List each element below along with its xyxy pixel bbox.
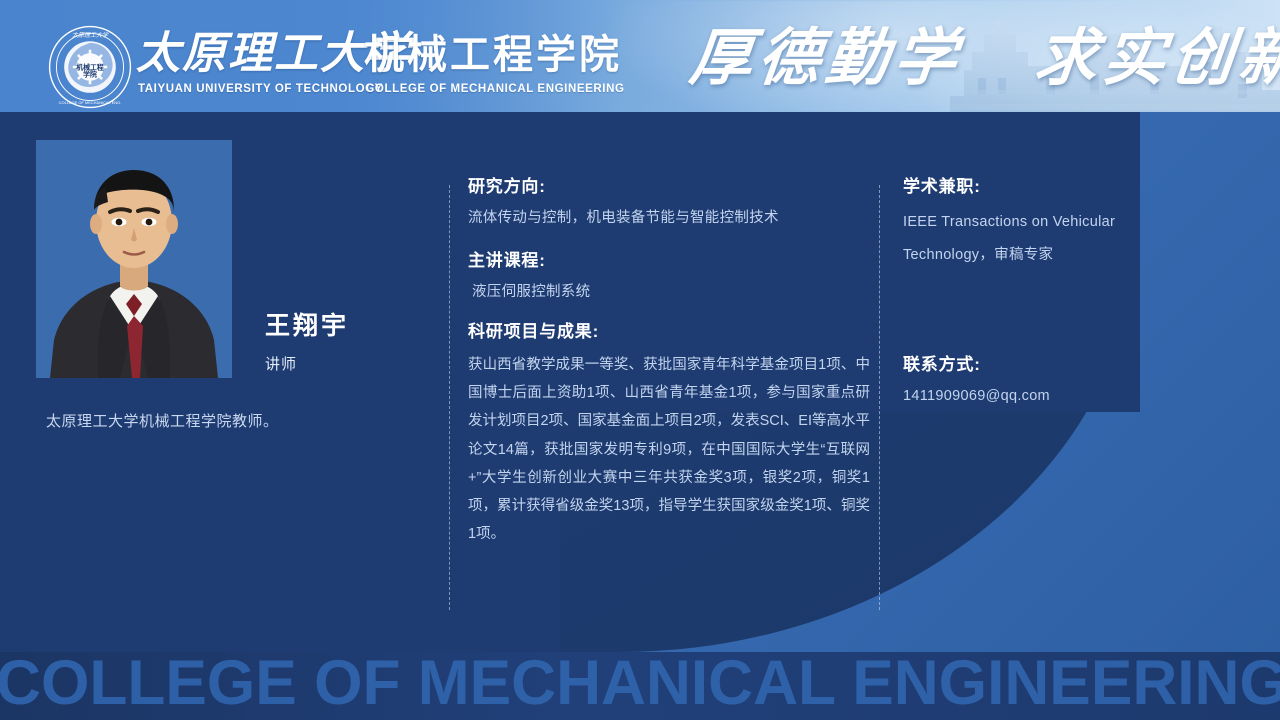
courses-body: 液压伺服控制系统: [468, 280, 870, 304]
column-divider-left: [449, 185, 450, 610]
faculty-bio: 太原理工大学机械工程学院教师。: [46, 410, 426, 434]
faculty-name: 王翔宇: [265, 306, 349, 342]
footer-band: COLLEGE OF MECHANICAL ENGINEERING: [0, 652, 1280, 720]
motto-calligraphy: 厚德勤学 求实创新: [686, 22, 1280, 96]
footer-banner-text: COLLEGE OF MECHANICAL ENGINEERING: [0, 652, 1272, 720]
middle-column: 研究方向: 流体传动与控制，机电装备节能与智能控制技术 主讲课程: 液压伺服控制…: [468, 172, 870, 548]
university-name-en: TAIYUAN UNIVERSITY OF TECHNOLOGY: [138, 83, 383, 95]
research-heading: 研究方向:: [468, 172, 870, 197]
contact-section: 联系方式: 1411909069@qq.com: [903, 350, 1203, 408]
research-body: 流体传动与控制，机电装备节能与智能控制技术: [468, 206, 870, 230]
courses-heading: 主讲课程:: [468, 246, 870, 271]
contact-body: 1411909069@qq.com: [903, 384, 1203, 408]
right-column: 学术兼职: IEEE Transactions on Vehicular Tec…: [903, 172, 1203, 408]
faculty-role: 讲师: [265, 353, 297, 374]
academic-section: 学术兼职: IEEE Transactions on Vehicular Tec…: [903, 172, 1203, 272]
projects-heading: 科研项目与成果:: [468, 317, 870, 342]
motto-part-2: 求实创新: [1031, 25, 1280, 93]
svg-text:机械工程: 机械工程: [76, 63, 104, 72]
courses-section: 主讲课程: 液压伺服控制系统: [468, 246, 870, 304]
slide-canvas: 机械工程 学院 太原理工大学 COLLEGE OF MECHANICAL ENG…: [0, 0, 1280, 720]
academic-heading: 学术兼职:: [903, 172, 1203, 197]
svg-text:学院: 学院: [83, 69, 97, 78]
university-seal-icon: 机械工程 学院 太原理工大学 COLLEGE OF MECHANICAL ENG…: [47, 24, 133, 110]
header-band: 机械工程 学院 太原理工大学 COLLEGE OF MECHANICAL ENG…: [0, 0, 1280, 112]
research-section: 研究方向: 流体传动与控制，机电装备节能与智能控制技术: [468, 172, 870, 230]
contact-heading: 联系方式:: [903, 350, 1203, 375]
college-name-cn: 机械工程学院: [364, 30, 622, 80]
college-name-en: COLLEGE OF MECHANICAL ENGINEERING: [366, 83, 625, 95]
column-divider-right: [879, 185, 880, 610]
portrait-photo: [36, 140, 232, 378]
projects-body: 获山西省教学成果一等奖、获批国家青年科学基金项目1项、中国博士后面上资助1项、山…: [468, 351, 870, 548]
svg-text:太原理工大学: 太原理工大学: [72, 31, 109, 39]
motto-part-1: 厚德勤学: [686, 25, 965, 93]
svg-text:COLLEGE OF MECHANICAL ENG.: COLLEGE OF MECHANICAL ENG.: [59, 100, 122, 105]
projects-section: 科研项目与成果: 获山西省教学成果一等奖、获批国家青年科学基金项目1项、中国博士…: [468, 317, 870, 548]
academic-body: IEEE Transactions on Vehicular Technolog…: [903, 206, 1203, 272]
